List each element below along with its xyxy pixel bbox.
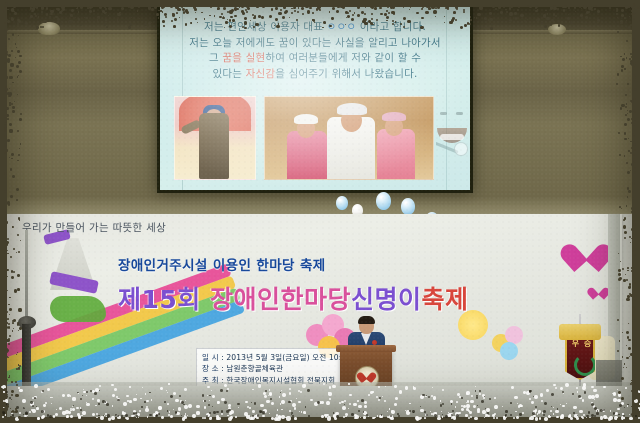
hat-right: [382, 112, 406, 121]
ceiling-lamp-left-icon: [38, 22, 60, 35]
slide-line-3: 그 꿈을 실현하여 여러분들에게 저와 같이 할 수: [160, 51, 470, 67]
title-part-4: 축제: [422, 285, 469, 314]
person-pink: [287, 131, 327, 179]
slide-text-block: 저는 편안세상 이용자 대표 ㅇㅇㅇ 이라고 합니다. 저는 오늘 저에게도 꿈…: [160, 20, 470, 82]
balloon: [376, 192, 391, 210]
person-right-pink: [377, 129, 415, 179]
eye-right-icon: [456, 112, 463, 115]
hand-shape: [454, 142, 468, 156]
kid-drawing-grass: [50, 296, 106, 322]
championship-pennant: 우 승: [565, 330, 595, 386]
pennant-top-band: [559, 324, 601, 340]
teeth-shape: [440, 134, 464, 140]
slide-photo-center: [264, 96, 434, 180]
slide-smiley-illustration: [436, 102, 468, 176]
white-hat-center: [337, 103, 367, 115]
person-shape: [199, 113, 229, 179]
event-photograph: 저는 편안세상 이용자 대표 ㅇㅇㅇ 이라고 합니다. 저는 오늘 저에게도 꿈…: [0, 0, 640, 423]
event-banner: 우리가 만들어 가는 따뜻한 세상 장애인거주시설 이용인 한마당 축제 제15…: [6, 214, 622, 394]
podium-top-surface: [336, 345, 396, 352]
title-part-1: 제15회: [118, 285, 210, 314]
stage-floor: [0, 386, 640, 423]
banner-main-title: 제15회 장애인한마당신명이축제: [118, 280, 469, 316]
left-wall-rod: [25, 230, 28, 322]
projection-screen: 저는 편안세상 이용자 대표 ㅇㅇㅇ 이라고 합니다. 저는 오늘 저에게도 꿈…: [160, 6, 470, 190]
flower-drawing-yellow: [492, 326, 526, 360]
slide-photo-left: [174, 96, 256, 180]
title-part-3: 신명이: [351, 285, 422, 314]
balloon: [336, 196, 348, 210]
banner-second-line: 장애인거주시설 이용인 한마당 축제: [118, 254, 326, 274]
slide-line-2: 저는 오늘 저에게도 꿈이 있다는 사실을 알리고 나아가서: [160, 36, 470, 52]
speaker-hair: [358, 316, 375, 324]
white-cap-left: [294, 114, 318, 124]
balloon: [401, 198, 415, 215]
left-wall-post: [22, 324, 31, 390]
title-part-2: 장애인한마당: [210, 285, 351, 314]
pink-heart-small-icon: [592, 286, 606, 298]
slide-line-1: 저는 편안세상 이용자 대표 ㅇㅇㅇ 이라고 합니다.: [160, 20, 470, 36]
banner-subtitle: 우리가 만들어 가는 따뜻한 세상: [22, 220, 166, 235]
ceiling-lamp-right-icon: [548, 24, 566, 35]
slide-line-4: 있다는 자신감을 심어주기 위해서 나왔습니다.: [160, 67, 470, 83]
pink-heart-icon: [572, 240, 606, 270]
eye-left-icon: [440, 112, 447, 115]
